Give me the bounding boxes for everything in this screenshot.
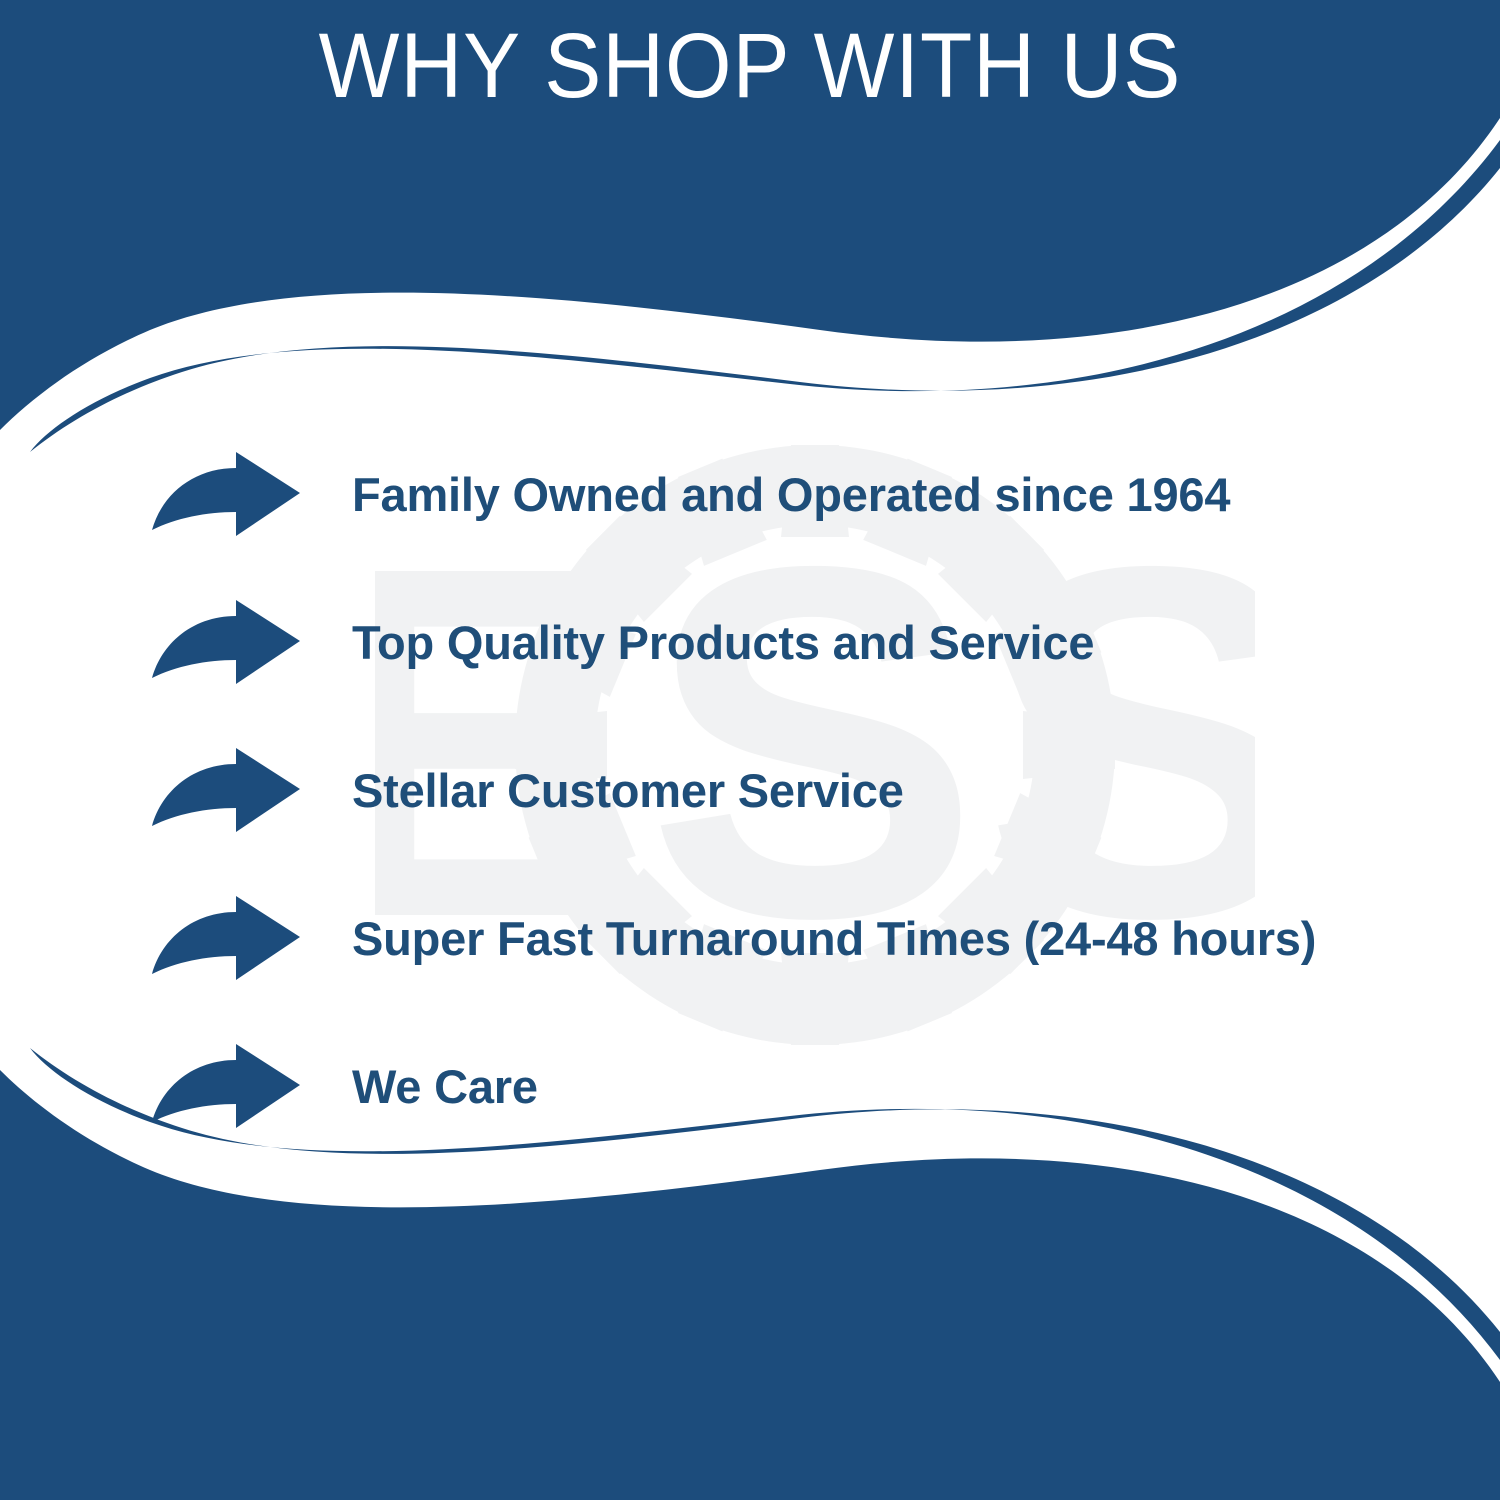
- curved-arrow-right-icon: [150, 894, 302, 982]
- list-item-label: Super Fast Turnaround Times (24-48 hours…: [352, 911, 1500, 966]
- curved-arrow-right-icon: [150, 1042, 302, 1130]
- list-item: Super Fast Turnaround Times (24-48 hours…: [0, 864, 1500, 1012]
- page-title: WHY SHOP WITH US: [53, 18, 1448, 115]
- list-item-label: Stellar Customer Service: [352, 763, 1500, 818]
- list-item: Top Quality Products and Service: [0, 568, 1500, 716]
- curved-arrow-right-icon: [150, 598, 302, 686]
- list-item: Stellar Customer Service: [0, 716, 1500, 864]
- list-item-label: We Care: [352, 1059, 1500, 1114]
- list-item-label: Family Owned and Operated since 1964: [352, 467, 1500, 522]
- header-accent-crescent: [30, 140, 1500, 452]
- curved-arrow-right-icon: [150, 450, 302, 538]
- curved-arrow-right-icon: [150, 746, 302, 834]
- benefits-list: Family Owned and Operated since 1964 Top…: [0, 420, 1500, 1160]
- list-item: Family Owned and Operated since 1964: [0, 420, 1500, 568]
- list-item: We Care: [0, 1012, 1500, 1160]
- list-item-label: Top Quality Products and Service: [352, 615, 1500, 670]
- promo-banner: ESS WHY SHOP WITH US Family Owned and Op…: [0, 0, 1500, 1500]
